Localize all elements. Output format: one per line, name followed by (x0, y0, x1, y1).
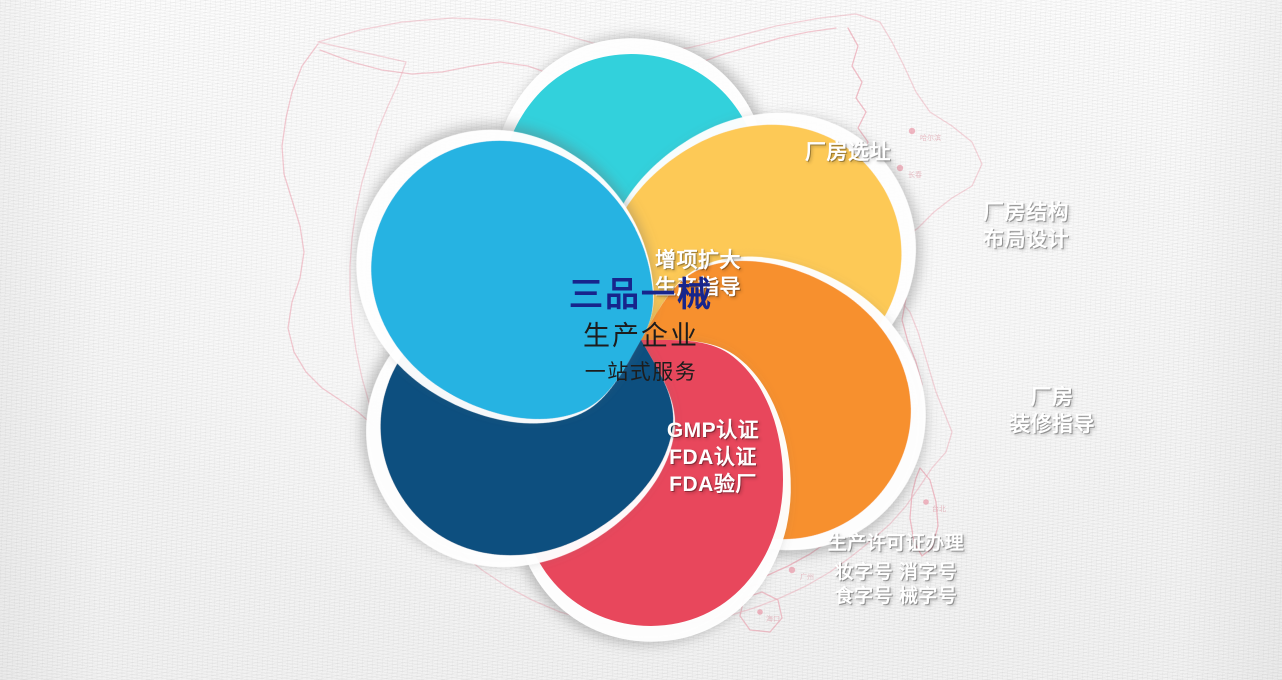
six-petal-swirl-diagram: 厂房选址 厂房结构 布局设计 厂房 装修指导 生产许可证办理 妆字号 消字号 食… (241, 0, 1041, 680)
poster-canvas: 哈尔滨 长春 沈阳 济南 郑州 杭州 福州 广州 台北 (0, 0, 1282, 680)
